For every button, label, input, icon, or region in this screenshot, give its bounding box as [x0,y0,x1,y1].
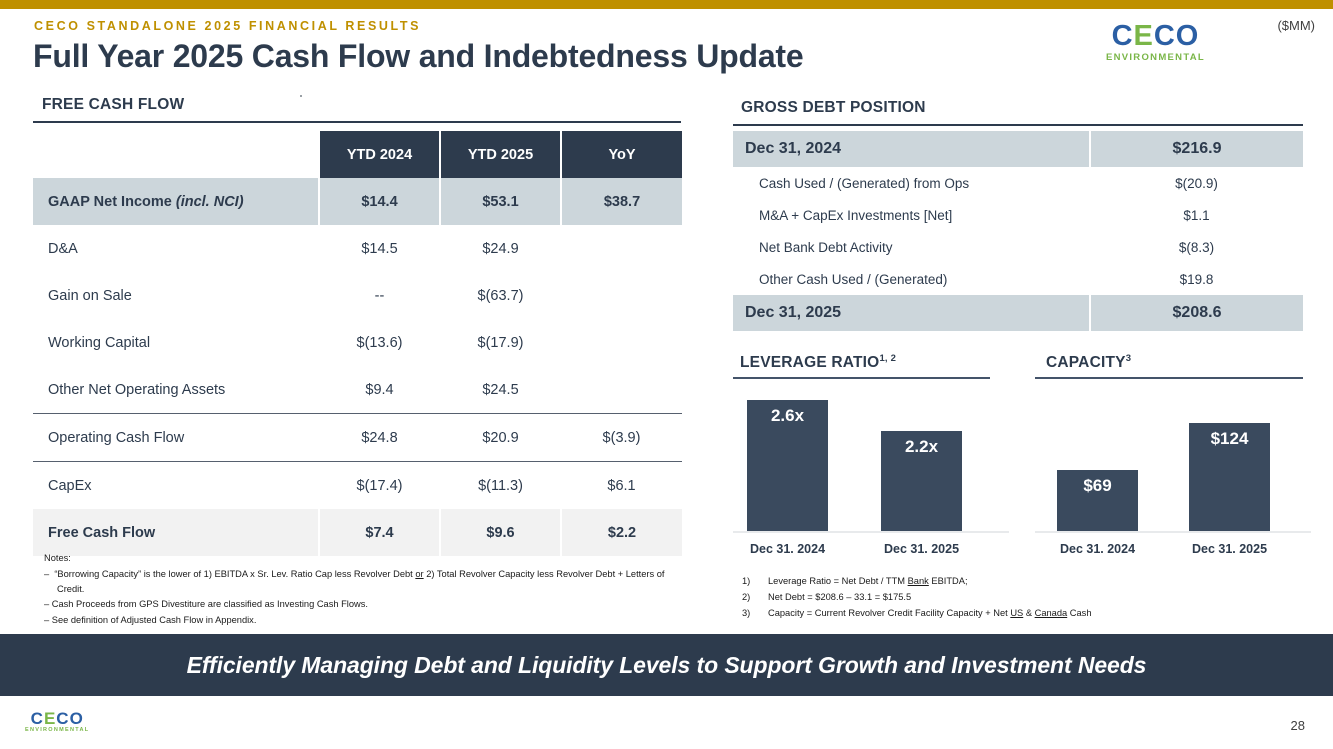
row-label: Dec 31, 2025 [733,295,1090,331]
tagline-text: Efficiently Managing Debt and Liquidity … [187,652,1147,679]
row-label-text: GAAP Net Income [48,194,176,210]
row-value: $19.8 [1090,263,1303,295]
note-item: – See definition of Adjusted Cash Flow i… [44,613,689,627]
cell-ytd-2024: $(17.4) [319,462,440,510]
gross-debt-heading: GROSS DEBT POSITION [741,99,926,117]
logo-letters-co: CO [56,709,84,728]
table-row: Gain on Sale -- $(63.7) [33,272,682,319]
cell-ytd-2024: $9.4 [319,366,440,414]
bar-value-label: $124 [1189,429,1270,449]
row-label: GAAP Net Income (incl. NCI) [33,178,319,225]
row-value: $(20.9) [1090,167,1303,199]
table-row: Free Cash Flow $7.4 $9.6 $2.2 [33,509,682,556]
chart-baseline [733,531,1009,533]
capacity-superscript: 3 [1126,353,1131,364]
row-label: Working Capital [33,319,319,366]
cell-yoy [561,319,682,366]
cell-yoy: $6.1 [561,462,682,510]
footnote-text-mid: & [1023,608,1034,618]
logo-subtitle: ENVIRONMENTAL [1106,53,1205,63]
row-label: Cash Used / (Generated) from Ops [733,167,1090,199]
footnote-item: 2) Net Debt = $208.6 – 33.1 = $175.5 [742,590,1302,606]
logo-letter-e: E [1134,20,1154,52]
footnote-text: Capacity = Current Revolver Credit Facil… [768,606,1092,622]
eyebrow-text: CECO STANDALONE 2025 FINANCIAL RESULTS [34,19,421,33]
capacity-heading: CAPACITY3 [1046,353,1131,372]
row-label: Other Cash Used / (Generated) [733,263,1090,295]
leverage-ratio-title: LEVERAGE RATIO [740,354,879,371]
footnote-text-underline-2: Canada [1035,608,1068,618]
leverage-ratio-heading: LEVERAGE RATIO1, 2 [740,353,896,372]
row-value: $216.9 [1090,131,1303,167]
logo-letter-e: E [44,709,56,728]
row-label: D&A [33,225,319,272]
row-value: $1.1 [1090,199,1303,231]
cell-ytd-2024: $14.5 [319,225,440,272]
cell-yoy: $2.2 [561,509,682,556]
footnote-text-post: EBITDA; [929,576,968,586]
capacity-rule [1035,377,1303,379]
bar-value-label: $69 [1057,476,1138,496]
table-row: Working Capital $(13.6) $(17.9) [33,319,682,366]
row-value: $208.6 [1090,295,1303,331]
table-header-row: YTD 2024 YTD 2025 YoY [33,131,682,178]
footnote-text-underline: US [1010,608,1023,618]
cell-ytd-2025: $(11.3) [440,462,561,510]
ceco-logo-footer: CECO ENVIRONMENTAL [25,710,89,734]
x-axis-label-2025: Dec 31. 2025 [869,542,974,556]
cell-ytd-2024: $24.8 [319,414,440,462]
table-row: GAAP Net Income (incl. NCI) $14.4 $53.1 … [33,178,682,225]
top-accent-bar [0,0,1333,9]
column-header-yoy: YoY [561,131,682,178]
footnote-number: 2) [742,590,768,606]
gross-debt-table: Dec 31, 2024 $216.9 Cash Used / (Generat… [733,131,1303,331]
cell-ytd-2024: $(13.6) [319,319,440,366]
capacity-chart: $69 $124 Dec 31. 2024 Dec 31. 2025 [1035,390,1315,550]
cell-ytd-2025: $(17.9) [440,319,561,366]
scan-speck [300,95,302,97]
bar-value-label: 2.2x [881,437,962,457]
x-axis-label-2024: Dec 31. 2024 [735,542,840,556]
chart-baseline [1035,531,1311,533]
footnote-item: 3) Capacity = Current Revolver Credit Fa… [742,606,1302,622]
x-axis-label-2024: Dec 31. 2024 [1045,542,1150,556]
table-row: D&A $14.5 $24.9 [33,225,682,272]
leverage-ratio-rule [733,377,990,379]
cell-ytd-2024: $14.4 [319,178,440,225]
cell-ytd-2025: $24.5 [440,366,561,414]
logo-letter-c1: C [1112,20,1134,52]
cell-yoy [561,366,682,414]
row-label: M&A + CapEx Investments [Net] [733,199,1090,231]
footnote-text-pre: Capacity = Current Revolver Credit Facil… [768,608,1010,618]
table-row: Other Net Operating Assets $9.4 $24.5 [33,366,682,414]
table-row: CapEx $(17.4) $(11.3) $6.1 [33,462,682,510]
cell-yoy [561,225,682,272]
x-axis-label-2025: Dec 31. 2025 [1177,542,1282,556]
note-item: – “Borrowing Capacity” is the lower of 1… [44,567,689,596]
table-row: M&A + CapEx Investments [Net] $1.1 [733,199,1303,231]
free-cash-flow-rule [33,121,681,123]
cell-yoy: $38.7 [561,178,682,225]
bar-value-label: 2.6x [747,406,828,426]
table-row: Cash Used / (Generated) from Ops $(20.9) [733,167,1303,199]
cell-ytd-2025: $20.9 [440,414,561,462]
page-number: 28 [1291,718,1305,733]
footnote-text-underline: Bank [908,576,929,586]
row-label: Dec 31, 2024 [733,131,1090,167]
bar-leverage-2025: 2.2x [881,431,962,531]
table-row: Operating Cash Flow $24.8 $20.9 $(3.9) [33,414,682,462]
gross-debt-rule [733,124,1303,126]
bar-capacity-2025: $124 [1189,423,1270,531]
page-title: Full Year 2025 Cash Flow and Indebtednes… [33,38,803,75]
bar-capacity-2024: $69 [1057,470,1138,531]
cell-ytd-2025: $9.6 [440,509,561,556]
leverage-ratio-superscript: 1, 2 [879,353,896,364]
cell-ytd-2025: $(63.7) [440,272,561,319]
note-item: – Cash Proceeds from GPS Divestiture are… [44,597,689,611]
row-label: Net Bank Debt Activity [733,231,1090,263]
table-row: Net Bank Debt Activity $(8.3) [733,231,1303,263]
row-label: Free Cash Flow [33,509,319,556]
footnote-text: Net Debt = $208.6 – 33.1 = $175.5 [768,590,911,606]
column-header-blank [33,131,319,178]
footnote-number: 3) [742,606,768,622]
table-row: Dec 31, 2024 $216.9 [733,131,1303,167]
free-cash-flow-heading: FREE CASH FLOW [42,96,184,114]
tagline-banner: Efficiently Managing Debt and Liquidity … [0,634,1333,696]
footnote-text: Leverage Ratio = Net Debt / TTM Bank EBI… [768,574,968,590]
row-label: Gain on Sale [33,272,319,319]
logo-letters-co: CO [1154,20,1200,52]
capacity-title: CAPACITY [1046,354,1126,371]
row-label: Operating Cash Flow [33,414,319,462]
logo-letter-c1: C [31,709,44,728]
footnote-text-pre: Leverage Ratio = Net Debt / TTM [768,576,908,586]
units-label: ($MM) [1277,18,1315,33]
row-label: CapEx [33,462,319,510]
bar-leverage-2024: 2.6x [747,400,828,531]
row-value: $(8.3) [1090,231,1303,263]
cell-yoy [561,272,682,319]
cell-ytd-2024: -- [319,272,440,319]
footnote-text-post: Cash [1067,608,1091,618]
row-label-italic: (incl. NCI) [176,194,244,210]
footnote-number: 1) [742,574,768,590]
cell-ytd-2025: $24.9 [440,225,561,272]
footnotes-block: 1) Leverage Ratio = Net Debt / TTM Bank … [742,574,1302,622]
ceco-logo-header: CECO ENVIRONMENTAL [1106,22,1205,63]
table-row: Dec 31, 2025 $208.6 [733,295,1303,331]
notes-block: Notes: – “Borrowing Capacity” is the low… [44,551,689,628]
notes-title: Notes: [44,551,689,565]
cell-ytd-2024: $7.4 [319,509,440,556]
footnote-item: 1) Leverage Ratio = Net Debt / TTM Bank … [742,574,1302,590]
logo-subtitle: ENVIRONMENTAL [25,728,89,734]
free-cash-flow-table: YTD 2024 YTD 2025 YoY GAAP Net Income (i… [33,131,682,556]
leverage-ratio-chart: 2.6x 2.2x Dec 31. 2024 Dec 31. 2025 [733,390,1013,550]
column-header-ytd-2024: YTD 2024 [319,131,440,178]
table-row: Other Cash Used / (Generated) $19.8 [733,263,1303,295]
column-header-ytd-2025: YTD 2025 [440,131,561,178]
row-label: Other Net Operating Assets [33,366,319,414]
cell-ytd-2025: $53.1 [440,178,561,225]
cell-yoy: $(3.9) [561,414,682,462]
